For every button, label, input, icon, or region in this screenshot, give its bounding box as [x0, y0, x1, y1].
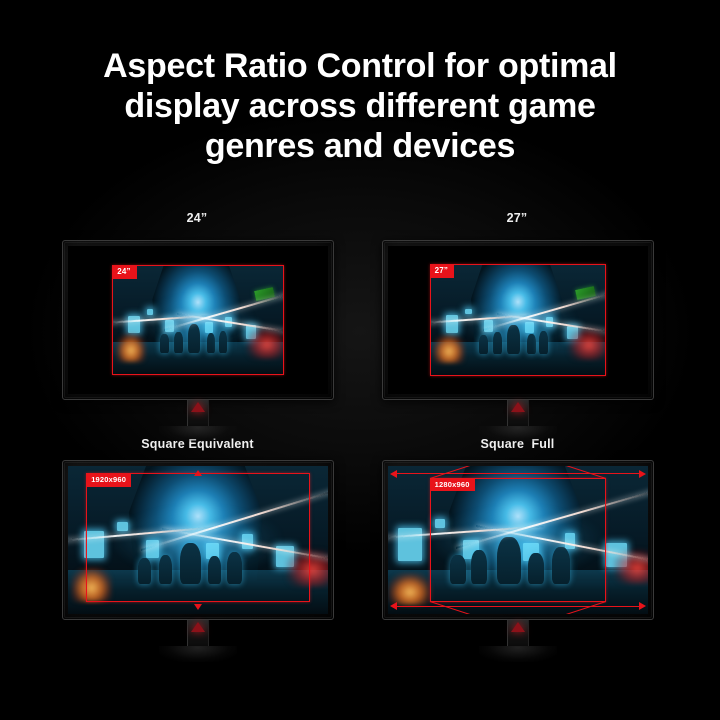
monitor-stand-base	[479, 426, 557, 442]
game-artwork-bottom-right	[388, 466, 648, 614]
monitor-stand-neck	[507, 620, 529, 646]
monitor-stand-neck	[187, 620, 209, 646]
monitor-panel: 27”	[388, 246, 648, 394]
game-artwork-bottom-left	[68, 466, 328, 614]
arrow-down-icon	[194, 604, 202, 610]
monitor-bottom-left[interactable]: 1920x960	[62, 460, 334, 620]
monitor-stand-neck	[187, 400, 209, 426]
monitor-stand-neck	[507, 400, 529, 426]
page-title-line-1: Aspect Ratio Control for optimal	[26, 46, 694, 86]
monitor-panel: 24”	[68, 246, 328, 394]
resolution-badge-bottom-right: 1280x960	[430, 478, 475, 492]
monitor-stand-base	[479, 646, 557, 662]
game-artwork-top-right: 27”	[430, 264, 607, 376]
arrow-up-icon	[194, 470, 202, 476]
game-artwork-top-left: 24”	[112, 265, 284, 375]
triangle-logo-icon	[191, 622, 205, 632]
triangle-logo-icon	[511, 402, 525, 412]
triangle-logo-icon	[191, 402, 205, 412]
page-title-line-2: display across different game	[26, 86, 694, 126]
promo-canvas: Aspect Ratio Control for optimal display…	[0, 0, 720, 720]
page-title-line-3: genres and devices	[26, 126, 694, 166]
monitor-stand-base	[159, 426, 237, 442]
monitor-stand-base	[159, 646, 237, 662]
monitor-panel: 1280x960	[388, 466, 648, 614]
resolution-badge-top-left: 24”	[112, 265, 137, 279]
triangle-logo-icon	[511, 622, 525, 632]
resolution-badge-top-right: 27”	[430, 264, 455, 278]
monitor-caption-top-right: 27”	[442, 211, 592, 225]
monitor-panel: 1920x960	[68, 466, 328, 614]
resolution-badge-bottom-left: 1920x960	[86, 473, 131, 487]
monitor-top-right[interactable]: 27”	[382, 240, 654, 400]
monitor-top-left[interactable]: 24”	[62, 240, 334, 400]
monitor-bottom-right[interactable]: 1280x960	[382, 460, 654, 620]
page-title: Aspect Ratio Control for optimal display…	[0, 46, 720, 166]
monitor-caption-top-left: 24”	[122, 211, 272, 225]
